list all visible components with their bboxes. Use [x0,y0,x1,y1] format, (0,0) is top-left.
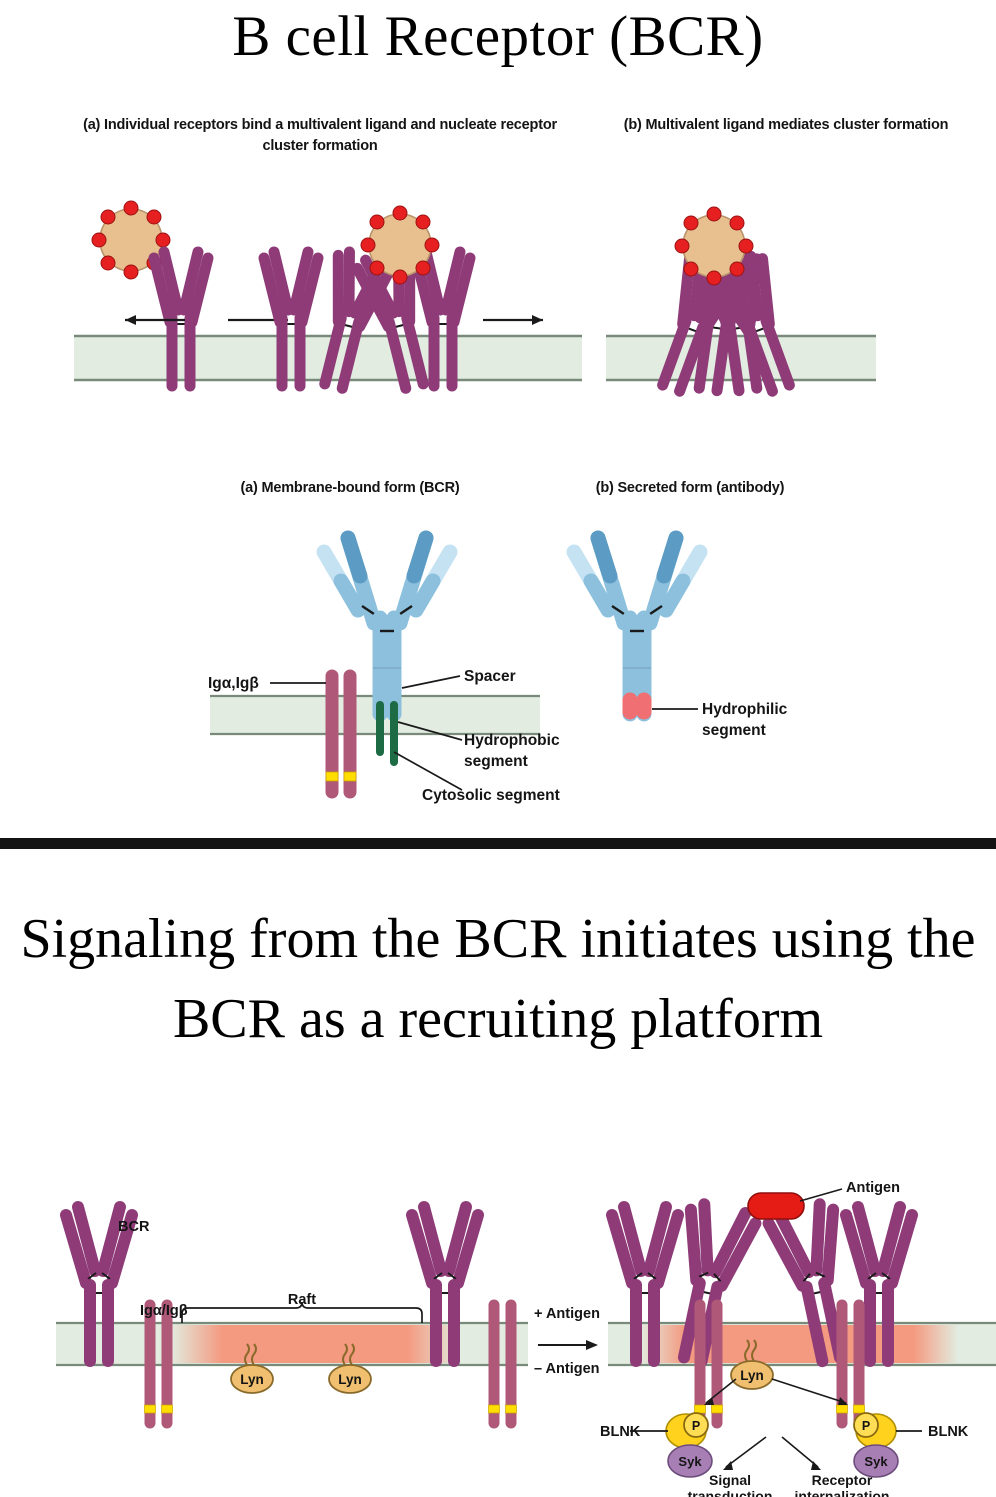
label-plus-antigen: + Antigen [534,1306,600,1322]
transition-arrow [538,1340,598,1350]
section-divider [0,838,996,849]
label-lyn: Lyn [338,1372,362,1387]
signaling-complex-left: P Syk [630,1413,712,1477]
label-phospho: P [862,1419,870,1433]
membrane-activated [608,1323,996,1365]
figure1-caption-b: (b) Multivalent ligand mediates cluster … [596,115,976,136]
label-syk: Syk [678,1454,702,1469]
slide-bcr-overview: B cell Receptor (BCR) (a) Individual rec… [0,0,996,838]
label-phospho: P [692,1419,700,1433]
label-hydrophobic-segment: Hydrophobic [464,732,560,749]
antigen [748,1193,804,1219]
multivalent-ligand-cluster [675,207,753,285]
figure-bcr-signaling: BCR Igα/Igβ Raft Lyn Lyn + Antigen – Ant… [0,1175,996,1497]
label-hydrophobic-segment-2: segment [464,753,528,770]
label-lyn: Lyn [240,1372,264,1387]
membrane-bound-antibody [324,538,450,714]
figure2-caption-b: (b) Secreted form (antibody) [540,478,840,499]
label-signal-transduction-2: transduction [688,1488,773,1497]
phosphorylation-arrows [706,1379,846,1403]
label-syk: Syk [864,1454,888,1469]
signaling-complex-right: P Syk [854,1413,922,1477]
label-lyn: Lyn [740,1368,764,1383]
label-ig-alpha-beta: Igα,Igβ [208,675,259,692]
label-raft: Raft [288,1292,316,1308]
multivalent-ligand-bound [361,206,439,284]
page-title: B cell Receptor (BCR) [0,6,996,68]
label-signal-transduction: Signal [709,1472,751,1488]
diffusion-arrow-right-2 [483,315,543,325]
figure2-caption-a: (a) Membrane-bound form (BCR) [180,478,520,499]
signaling-title: Signaling from the BCR initiates using t… [0,900,996,1059]
label-antigen: Antigen [846,1180,900,1196]
label-hydrophilic-segment-2: segment [702,722,766,739]
label-blnk-left: BLNK [600,1424,641,1440]
hydrophilic-tips [630,700,644,712]
label-ig-alpha-beta: Igα/Igβ [140,1303,188,1319]
label-cytosolic-segment: Cytosolic segment [422,787,560,804]
label-receptor-internalization-2: internalization [795,1488,890,1497]
figure-bcr-vs-antibody: Igα,Igβ Spacer Hydrophobic segment Cytos… [150,500,890,830]
label-blnk-right: BLNK [928,1424,969,1440]
label-minus-antigen: – Antigen [534,1361,600,1377]
outcome-arrows [726,1437,818,1467]
label-bcr: BCR [118,1219,150,1235]
figure-receptor-clustering [0,190,996,415]
label-hydrophilic-segment: Hydrophilic [702,701,788,718]
figure1-caption-a: (a) Individual receptors bind a multival… [62,115,578,157]
secreted-antibody [574,538,700,714]
label-receptor-internalization: Receptor [812,1472,873,1488]
label-spacer: Spacer [464,668,516,685]
